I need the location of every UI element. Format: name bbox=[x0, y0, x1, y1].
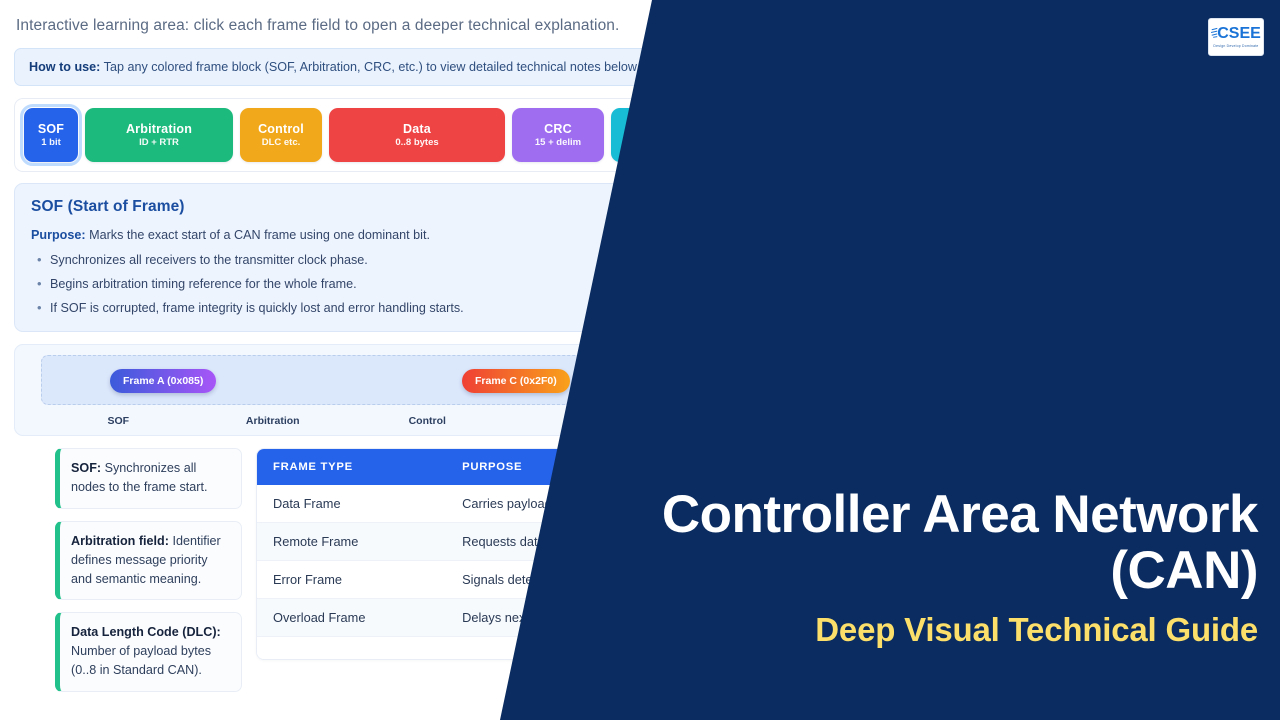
timeline-axis: SOFArbitrationControlData bbox=[41, 415, 659, 427]
detail-bullet: If SOF is corrupted, frame integrity is … bbox=[31, 301, 669, 315]
logo-tagline: Design Develop Dominate bbox=[1213, 44, 1258, 48]
frame-block-crc[interactable]: CRC15 + delim bbox=[512, 108, 604, 162]
note-label: Arbitration field: bbox=[71, 534, 169, 548]
note-text: Number of payload bytes (0..8 in Standar… bbox=[71, 644, 211, 677]
table-header-cell: FRAME TYPE bbox=[257, 449, 446, 485]
frame-block-title: SOF bbox=[38, 123, 64, 136]
how-to-use-label: How to use: bbox=[29, 60, 100, 74]
how-to-use-text: Tap any colored frame block (SOF, Arbitr… bbox=[100, 60, 639, 74]
detail-heading: SOF (Start of Frame) bbox=[31, 198, 669, 216]
detail-bullet-list: Synchronizes all receivers to the transm… bbox=[31, 253, 669, 315]
frame-block-title: Data bbox=[403, 123, 431, 136]
hero-title-line1: Controller Area Network bbox=[558, 487, 1258, 543]
note-label: SOF: bbox=[71, 461, 101, 475]
hero-title-line2: (CAN) bbox=[558, 543, 1258, 599]
detail-bullet: Begins arbitration timing reference for … bbox=[31, 277, 669, 291]
timeline-pill[interactable]: Frame C (0x2F0) bbox=[462, 369, 570, 393]
frame-block-subtitle: 0..8 bytes bbox=[395, 138, 438, 148]
frame-block-subtitle: 15 + delim bbox=[535, 138, 581, 148]
logo-letters-see: SEE bbox=[1229, 26, 1261, 42]
frame-block-arbitration[interactable]: ArbitrationID + RTR bbox=[85, 108, 233, 162]
logo-mark: CSEE bbox=[1211, 26, 1261, 42]
frame-block-subtitle: DLC etc. bbox=[262, 138, 301, 148]
table-cell: Error Frame bbox=[257, 561, 446, 599]
table-cell: Remote Frame bbox=[257, 523, 446, 561]
table-cell: Data Frame bbox=[257, 485, 446, 523]
table-cell: Overload Frame bbox=[257, 599, 446, 637]
frame-block-ack[interactable]: ACK2 bit bbox=[611, 108, 693, 162]
how-to-use-banner: How to use: Tap any colored frame block … bbox=[14, 48, 686, 86]
detail-panel: SOF (Start of Frame) Purpose: Marks the … bbox=[14, 183, 686, 332]
frame-block-title: Arbitration bbox=[126, 123, 192, 136]
table-header-row: FRAME TYPEPURPOSE bbox=[257, 449, 685, 485]
note-card: SOF: Synchronizes all nodes to the frame… bbox=[55, 448, 242, 509]
note-card: Data Length Code (DLC): Number of payloa… bbox=[55, 612, 242, 692]
frame-block-subtitle: ID + RTR bbox=[139, 138, 179, 148]
frame-block-title: CRC bbox=[544, 123, 572, 136]
timeline-pill[interactable]: Frame A (0x085) bbox=[110, 369, 216, 393]
hero-title-block: Controller Area Network (CAN) Deep Visua… bbox=[558, 487, 1258, 649]
frame-block-strip: SOF1 bitArbitrationID + RTRControlDLC et… bbox=[24, 108, 676, 162]
detail-purpose: Purpose: Marks the exact start of a CAN … bbox=[31, 228, 669, 242]
frame-block-data[interactable]: Data0..8 bytes bbox=[329, 108, 505, 162]
timeline-track: Frame A (0x085)Frame C (0x2F0) bbox=[41, 355, 659, 405]
frame-block-title: ACK bbox=[638, 123, 666, 136]
frame-block-subtitle: 2 bit bbox=[642, 138, 662, 148]
detail-bullet: Synchronizes all receivers to the transm… bbox=[31, 253, 669, 267]
timeline-axis-label: Data bbox=[505, 415, 660, 427]
table-header-cell: PURPOSE bbox=[446, 449, 685, 485]
intro-text: Interactive learning area: click each fr… bbox=[14, 0, 686, 35]
frame-block-subtitle: 1 bit bbox=[41, 138, 61, 148]
timeline-axis-label: Arbitration bbox=[196, 415, 351, 427]
note-card-list: SOF: Synchronizes all nodes to the frame… bbox=[55, 448, 242, 692]
timeline-axis-label: SOF bbox=[41, 415, 196, 427]
note-card: Arbitration field: Identifier defines me… bbox=[55, 521, 242, 601]
frame-block-control[interactable]: ControlDLC etc. bbox=[240, 108, 322, 162]
table-spacer-cell bbox=[257, 637, 446, 659]
timeline-axis-label: Control bbox=[350, 415, 505, 427]
hero-subtitle: Deep Visual Technical Guide bbox=[558, 611, 1258, 649]
logo-letter-c: C bbox=[1217, 26, 1229, 42]
detail-purpose-label: Purpose: bbox=[31, 228, 86, 242]
detail-purpose-text: Marks the exact start of a CAN frame usi… bbox=[86, 228, 430, 242]
frame-block-sof[interactable]: SOF1 bit bbox=[24, 108, 78, 162]
frame-block-strip-card: SOF1 bitArbitrationID + RTRControlDLC et… bbox=[14, 98, 686, 172]
timeline-card: Frame A (0x085)Frame C (0x2F0) SOFArbitr… bbox=[14, 344, 686, 436]
note-label: Data Length Code (DLC): bbox=[71, 625, 221, 639]
csee-logo: CSEE Design Develop Dominate bbox=[1208, 18, 1264, 56]
frame-block-title: Control bbox=[258, 123, 304, 136]
screenshot-root: Interactive learning area: click each fr… bbox=[0, 0, 1280, 720]
